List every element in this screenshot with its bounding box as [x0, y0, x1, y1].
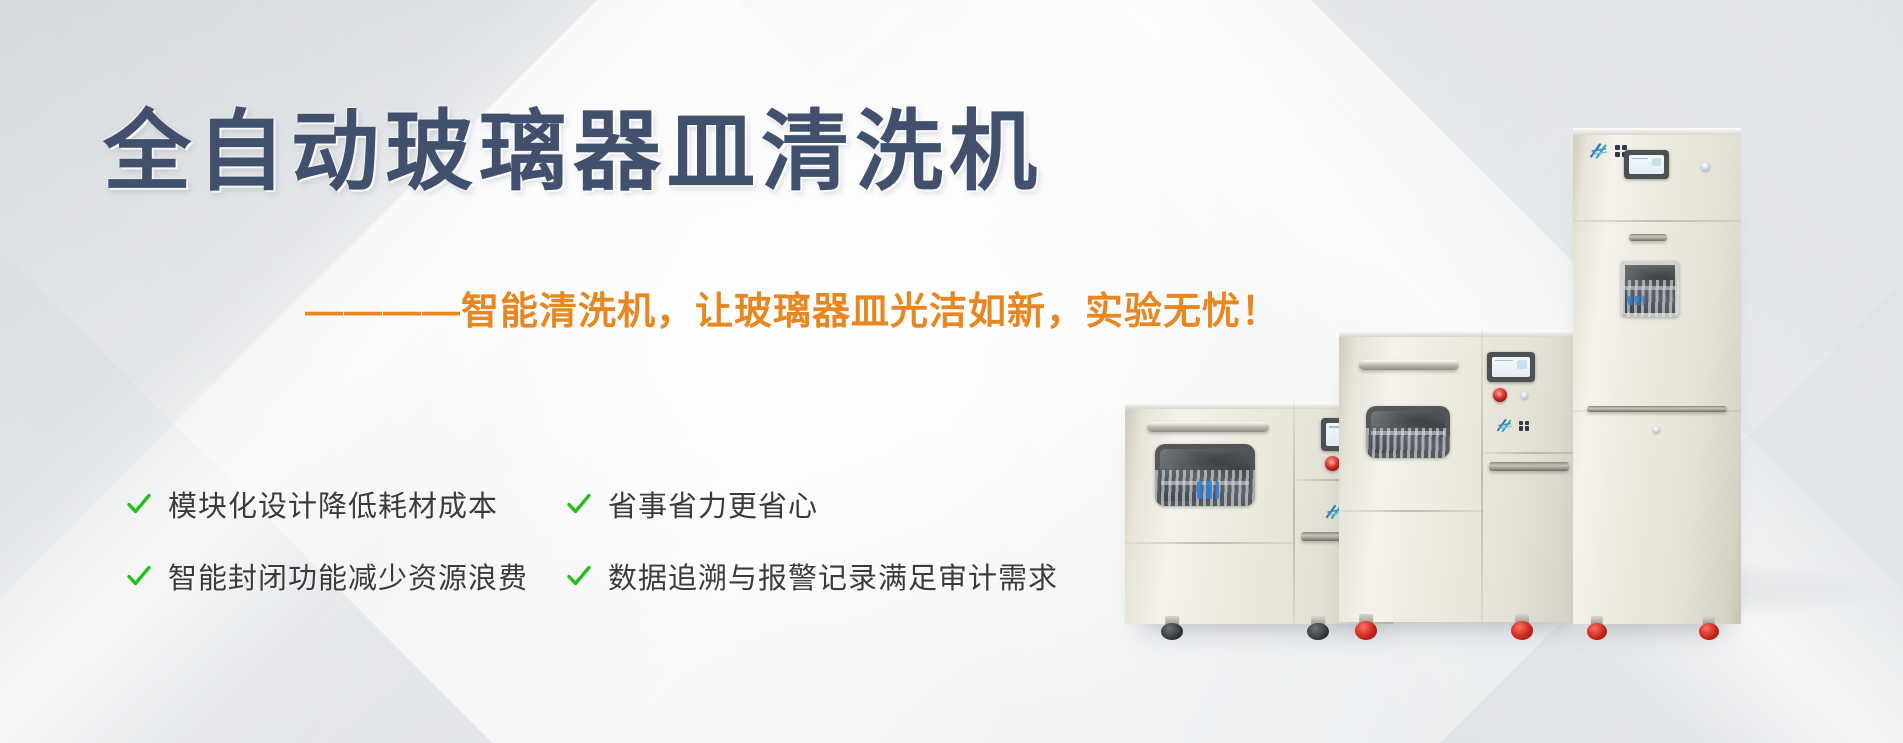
product-image-freestanding-washer	[1339, 330, 1591, 622]
hero-banner: 全自动玻璃器皿清洗机 ————智能清洗机，让玻璃器皿光洁如新，实验无忧！ 模块化…	[0, 0, 1903, 743]
base-door-handle[interactable]	[1587, 406, 1727, 412]
control-touchscreen[interactable]	[1624, 150, 1669, 179]
check-icon	[126, 491, 152, 517]
feature-item: 模块化设计降低耗材成本	[126, 483, 566, 525]
caster-wheel	[1355, 614, 1377, 640]
banner-headline: 全自动玻璃器皿清洗机	[103, 108, 1043, 196]
machine-top-cap	[1573, 128, 1741, 135]
caster-wheel	[1161, 616, 1183, 640]
feature-label: 数据追溯与报警记录满足审计需求	[608, 555, 1058, 597]
rack-shelf	[1371, 431, 1445, 435]
feature-list: 模块化设计降低耗材成本 省事省力更省心 智能封闭功能减少资源浪费 数据追溯与报警…	[126, 468, 1058, 612]
caster-wheel	[1699, 616, 1719, 640]
rack-shelf	[1624, 286, 1675, 290]
indicator-light[interactable]	[1701, 162, 1710, 171]
machine-seam-vertical	[1481, 330, 1483, 622]
chamber-viewing-window	[1155, 444, 1255, 506]
indicator-light[interactable]	[1521, 392, 1528, 399]
check-icon	[566, 491, 592, 517]
machine-seam-horizontal	[1339, 510, 1483, 512]
feature-item: 智能封闭功能减少资源浪费	[126, 555, 566, 597]
brand-logo	[1589, 142, 1627, 160]
machine-seam-horizontal	[1125, 542, 1293, 544]
emergency-stop-button[interactable]	[1493, 388, 1507, 402]
feature-item: 省事省力更省心	[566, 483, 1058, 525]
chamber-viewing-window	[1621, 261, 1679, 317]
feature-label: 模块化设计降低耗材成本	[168, 483, 498, 525]
screen-content	[1629, 155, 1664, 174]
feature-item: 数据追溯与报警记录满足审计需求	[566, 555, 1058, 597]
machine-top-cap	[1339, 330, 1591, 337]
blue-pipette-tips	[1628, 296, 1645, 305]
screen-content	[1492, 357, 1530, 377]
h-logo-icon	[1496, 418, 1515, 433]
caster-wheel	[1511, 614, 1533, 640]
banner-copy: 全自动玻璃器皿清洗机 ————智能清洗机，让玻璃器皿光洁如新，实验无忧！ 模块化…	[0, 0, 1140, 743]
check-icon	[126, 563, 152, 589]
emergency-stop-button[interactable]	[1325, 456, 1340, 471]
caster-wheel	[1587, 616, 1607, 640]
machine-seam-horizontal	[1573, 220, 1741, 222]
caster-wheel	[1307, 616, 1329, 640]
feature-label: 智能封闭功能减少资源浪费	[168, 555, 528, 597]
lower-drawer-handle[interactable]	[1489, 462, 1569, 471]
machine-body	[1573, 128, 1741, 624]
blue-pipette-tips	[1197, 481, 1219, 498]
chamber-door-handle[interactable]	[1629, 234, 1667, 241]
machine-body	[1339, 330, 1591, 622]
base-door-latch[interactable]	[1653, 426, 1660, 433]
product-photo-group	[1103, 0, 1903, 743]
machine-seam-vertical	[1293, 402, 1295, 624]
check-icon	[566, 563, 592, 589]
product-image-tall-column-washer	[1573, 128, 1741, 624]
chamber-door-handle[interactable]	[1359, 360, 1459, 370]
chamber-door-handle[interactable]	[1147, 422, 1269, 432]
control-touchscreen[interactable]	[1487, 352, 1535, 382]
logo-grid-icon	[1519, 421, 1529, 431]
chamber-viewing-window	[1366, 406, 1450, 458]
feature-label: 省事省力更省心	[608, 483, 818, 525]
brand-logo	[1496, 418, 1529, 433]
h-logo-icon	[1589, 142, 1611, 160]
